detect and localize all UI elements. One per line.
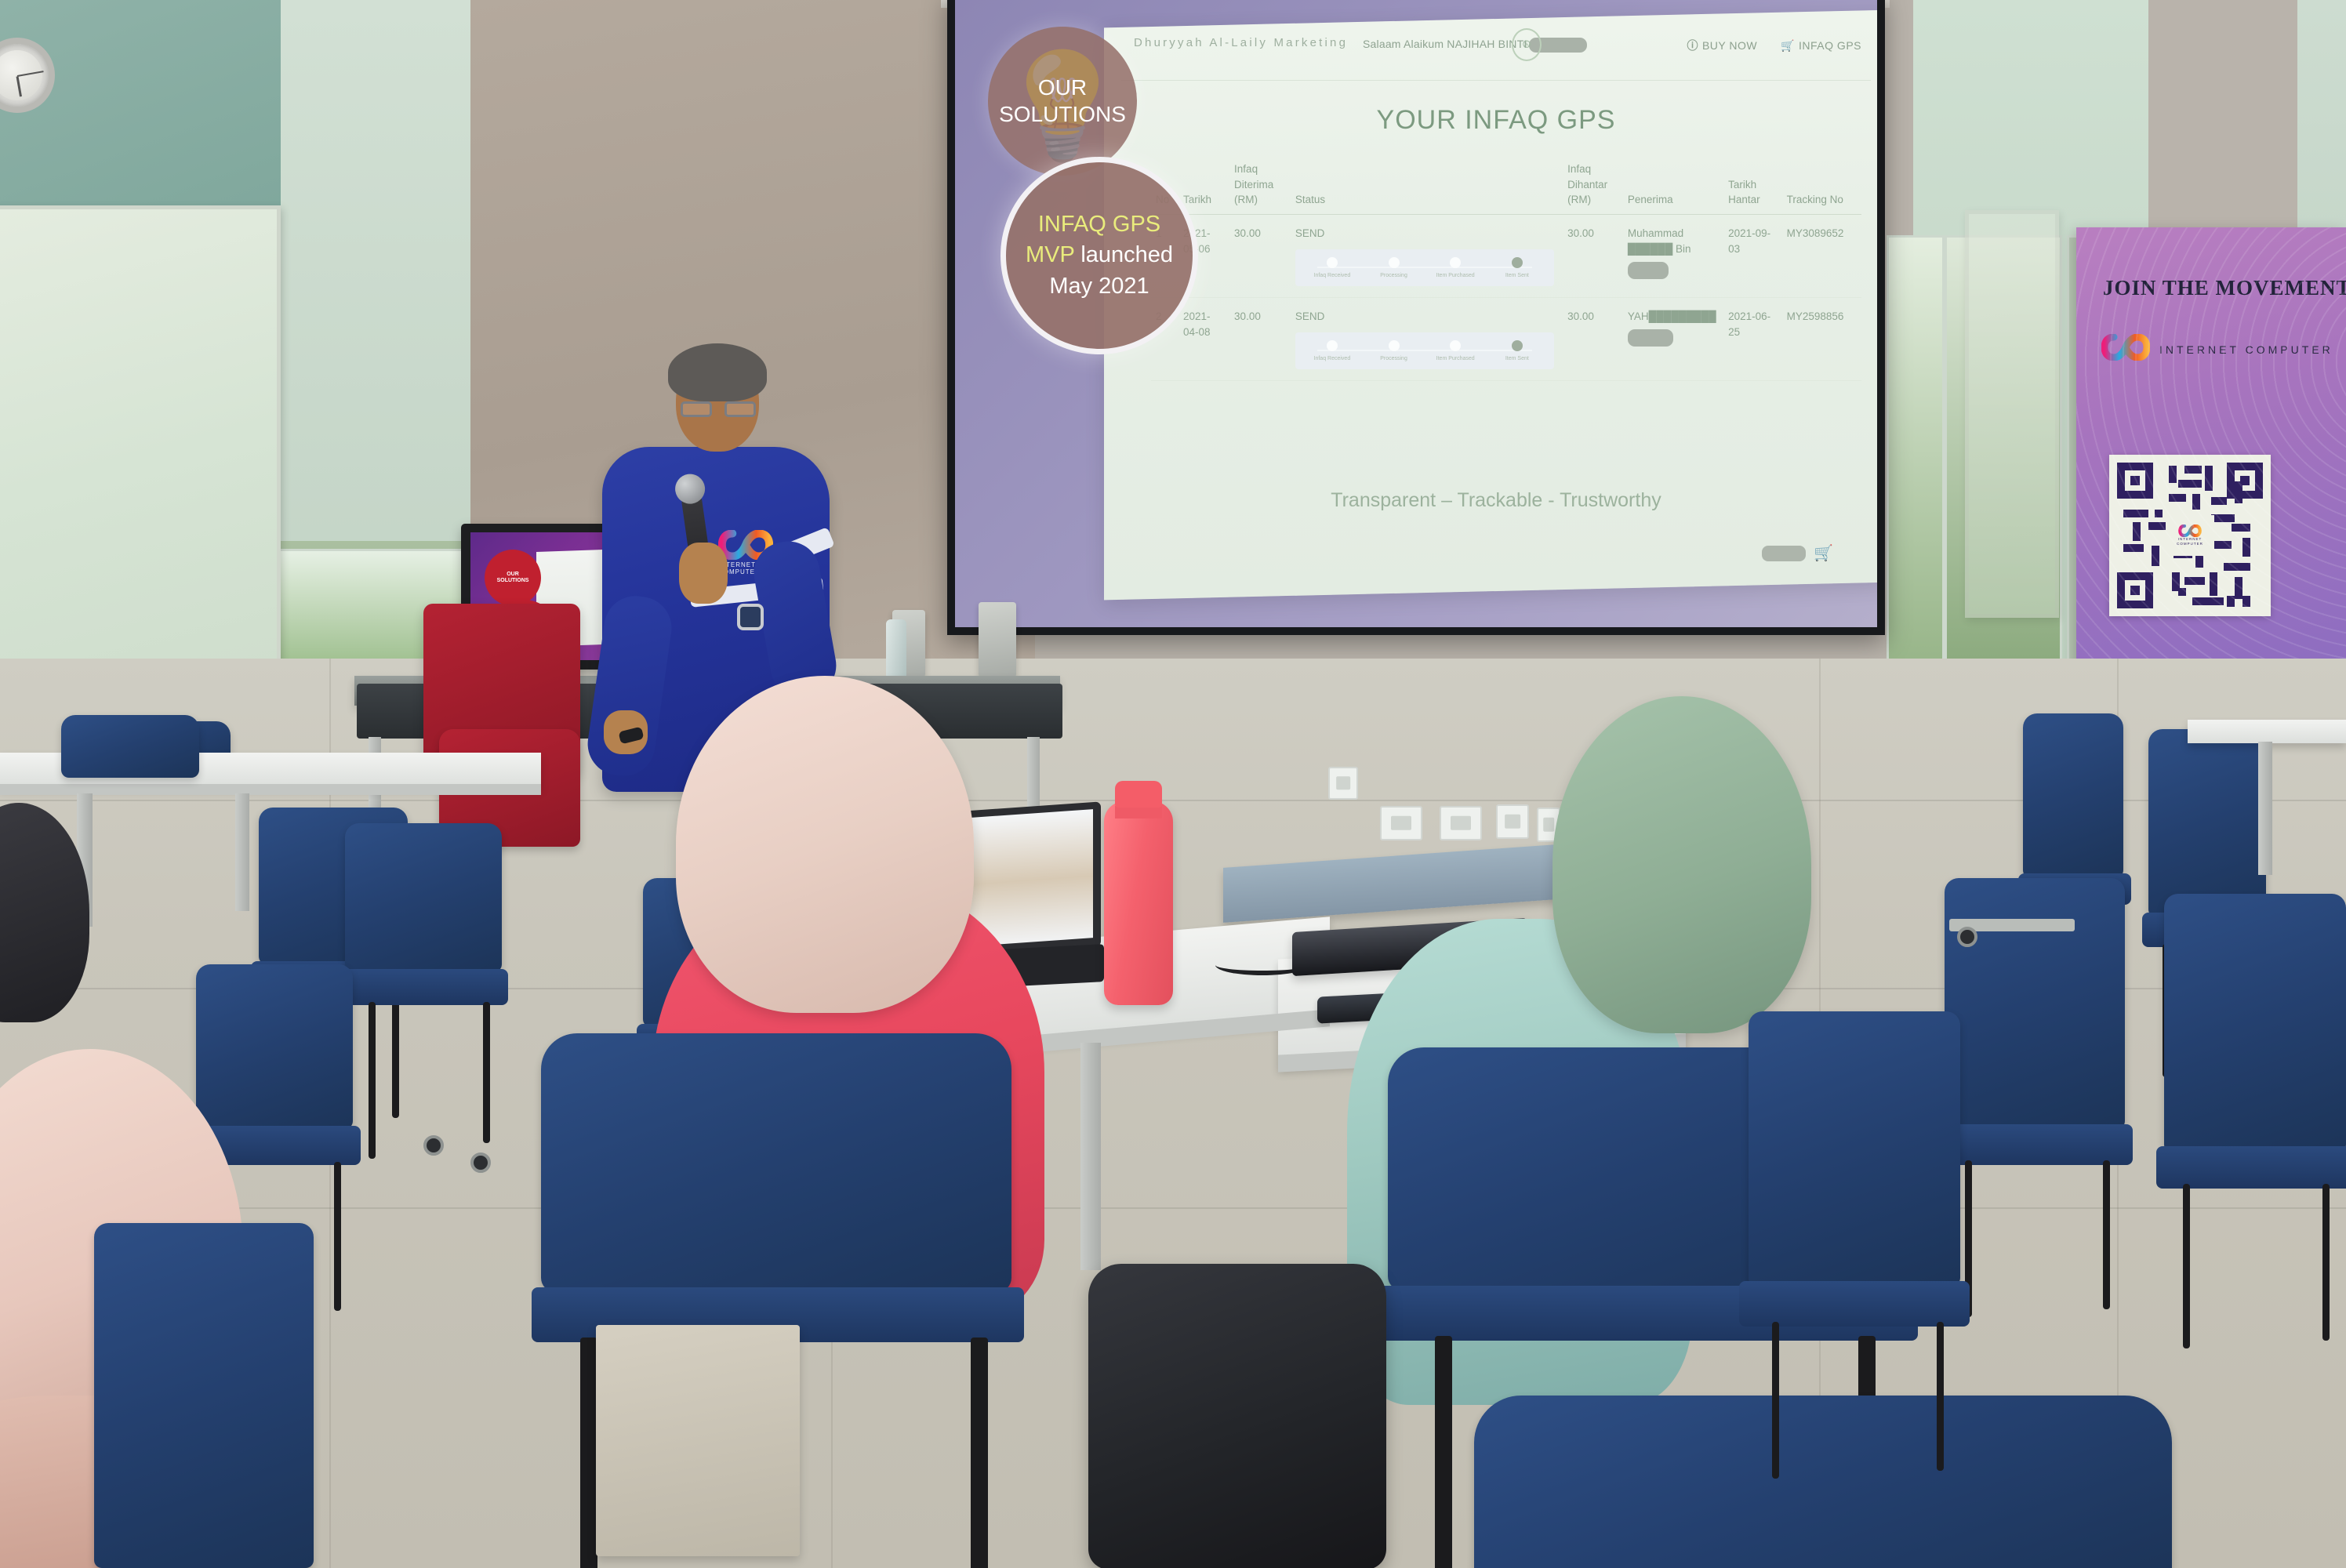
- cell-dihantar: 30.00: [1563, 297, 1623, 380]
- tracker-step-label: Item Sent: [1491, 356, 1543, 363]
- status-label: SEND: [1295, 226, 1558, 241]
- cell-diterima: 30.00: [1229, 214, 1291, 297]
- tracker-step-active: Item Sent: [1491, 257, 1543, 280]
- presenter-hair: [668, 343, 767, 401]
- speaker-right: [979, 602, 1016, 677]
- tracker-step-label: Infaq Received: [1306, 356, 1358, 363]
- table-leg: [235, 793, 249, 911]
- col-tarikh: Tarikh: [1178, 162, 1229, 214]
- navbar-links: ⓘ BUY NOW 🛒 INFAQ GPS: [1687, 38, 1861, 53]
- table-row: 1 2021-05-06 30.00 SEND Infaq Received: [1151, 214, 1861, 297]
- browser-window: Dhuryyah Al-Laily Marketing Salaam Alaik…: [1104, 10, 1877, 601]
- shopping-cart-icon[interactable]: 🛒: [1814, 543, 1833, 563]
- col-tarikh-hantar: Tarikh Hantar: [1723, 162, 1781, 214]
- table-row: 2 2021-04-08 30.00 SEND Infaq Received: [1151, 297, 1861, 380]
- whiteboard-small-right: [1965, 210, 2059, 618]
- delivery-progress-tracker: Infaq Received Processing Item Purchased…: [1295, 332, 1554, 369]
- infinity-logo-icon: [2101, 334, 2150, 365]
- info-circle-icon: ⓘ: [1687, 38, 1698, 53]
- greeting-text: Salaam Alaikum NAJIHAH BINTI: [1363, 38, 1527, 50]
- cell-penerima: YAH█████████: [1623, 297, 1723, 380]
- col-tracking: Tracking No: [1782, 162, 1861, 214]
- cell-diterima: 30.00: [1229, 297, 1291, 380]
- penerima-value: YAH█████████: [1628, 310, 1716, 322]
- cart-row: 🛒: [1762, 543, 1833, 563]
- wall-socket-4: [1496, 804, 1529, 839]
- glasses-icon: [681, 401, 756, 419]
- infaq-table: No Tarikh Infaq Diterima (RM) Status Inf…: [1151, 162, 1861, 381]
- infaq-gps-label: INFAQ GPS: [1799, 39, 1861, 52]
- buy-now-label: BUY NOW: [1702, 39, 1757, 52]
- redacted-recipient: [1628, 329, 1673, 347]
- col-penerima: Penerima: [1623, 162, 1723, 214]
- hijab: [676, 676, 974, 1013]
- tracker-step-active: Item Sent: [1491, 340, 1543, 363]
- infaq-table-wrap: No Tarikh Infaq Diterima (RM) Status Inf…: [1151, 162, 1861, 381]
- table-body: 1 2021-05-06 30.00 SEND Infaq Received: [1151, 214, 1861, 380]
- infaq-gps-link[interactable]: 🛒 INFAQ GPS: [1781, 38, 1861, 53]
- mvp-line2-rest: launched: [1080, 242, 1173, 267]
- redacted-cart-value: [1762, 546, 1806, 561]
- tracker-step-label: Infaq Received: [1306, 273, 1358, 280]
- redacted-recipient: [1628, 262, 1669, 279]
- banner-logo-row: INTERNET COMPUTER: [2101, 334, 2333, 365]
- chair-caster: [423, 1135, 444, 1156]
- tracker-step: Infaq Received: [1306, 340, 1358, 363]
- whiteboard-left: [0, 205, 281, 668]
- table-leg: [2258, 742, 2272, 875]
- shopping-cart-icon: 🛒: [1781, 39, 1795, 53]
- navbar-divider: [1121, 80, 1871, 81]
- col-diterima: Infaq Diterima (RM): [1229, 162, 1291, 214]
- site-navbar: Dhuryyah Al-Laily Marketing Salaam Alaik…: [1104, 19, 1877, 74]
- projected-slide: Dhuryyah Al-Laily Marketing Salaam Alaik…: [955, 0, 1877, 627]
- monitor-circle-solutions: OURSOLUTIONS: [485, 550, 541, 606]
- tracker-step: Item Purchased: [1429, 257, 1481, 280]
- chair-caster: [470, 1152, 491, 1173]
- black-backpack: [1088, 1264, 1386, 1568]
- presentation-room-photo: Dhuryyah Al-Laily Marketing Salaam Alaik…: [0, 0, 2346, 1568]
- tracker-step-label: Item Purchased: [1429, 273, 1481, 280]
- cell-tarikh-hantar: 2021-06-25: [1723, 297, 1781, 380]
- banner-stand-caster: [1957, 927, 1977, 947]
- wall-socket-1: [1328, 767, 1358, 800]
- our-solutions-label: OURSOLUTIONS: [999, 74, 1126, 127]
- tracker-step-label: Processing: [1368, 273, 1420, 280]
- qr-code-icon: INTERNET COMPUTER: [2109, 455, 2271, 616]
- qr-grid: INTERNET COMPUTER: [2117, 463, 2263, 608]
- tracker-step: Processing: [1368, 340, 1420, 363]
- penerima-value: Muhammad ██████ Bin: [1628, 227, 1691, 255]
- cell-dihantar: 30.00: [1563, 214, 1623, 297]
- cell-tarikh-hantar: 2021-09-03: [1723, 214, 1781, 297]
- page-title: YOUR INFAQ GPS: [1104, 105, 1877, 136]
- paper-bag: [596, 1325, 800, 1556]
- mvp-launch-circle: INFAQ GPS MVP launched May 2021: [1000, 157, 1198, 354]
- tracker-step-label: Item Sent: [1491, 273, 1543, 280]
- wristwatch: [737, 604, 764, 630]
- site-brand: Dhuryyah Al-Laily Marketing: [1134, 36, 1348, 49]
- table-leg: [1080, 1043, 1101, 1270]
- presenter-hand-mic: [679, 543, 728, 604]
- halal-certification-icon: ☮: [1512, 28, 1542, 61]
- banner-logo-text: INTERNET COMPUTER: [2159, 343, 2333, 356]
- mvp-line3: May 2021: [1049, 274, 1149, 299]
- table-head: No Tarikh Infaq Diterima (RM) Status Inf…: [1151, 162, 1861, 214]
- user-greeting: Salaam Alaikum NAJIHAH BINTI: [1363, 38, 1587, 53]
- wall-socket-2: [1380, 806, 1422, 840]
- tracker-step: Processing: [1368, 257, 1420, 280]
- right-table: [2188, 720, 2346, 743]
- mvp-line1: INFAQ GPS: [1038, 212, 1160, 237]
- pink-water-bottle: [1104, 801, 1173, 1005]
- qr-logo-caption: INTERNET COMPUTER: [2166, 537, 2214, 546]
- buy-now-link[interactable]: ⓘ BUY NOW: [1687, 38, 1757, 53]
- cell-penerima: Muhammad ██████ Bin: [1623, 214, 1723, 297]
- our-solutions-circle: 💡 OURSOLUTIONS: [988, 27, 1137, 176]
- hijab: [1552, 696, 1811, 1033]
- cell-status: SEND Infaq Received Processing Item Purc…: [1291, 214, 1563, 297]
- tracker-step-label: Processing: [1368, 356, 1420, 363]
- cell-status: SEND Infaq Received Processing Item Purc…: [1291, 297, 1563, 380]
- banner-headline: JOIN THE MOVEMENT: [2103, 276, 2346, 300]
- small-water-bottle: [886, 619, 906, 682]
- col-status: Status: [1291, 162, 1563, 214]
- wall-left-pale: [281, 0, 485, 619]
- cell-tracking: MY2598856: [1782, 297, 1861, 380]
- tracker-step-label: Item Purchased: [1429, 356, 1481, 363]
- window-behind-screen: [1887, 235, 1945, 674]
- table-header-row: No Tarikh Infaq Diterima (RM) Status Inf…: [1151, 162, 1861, 214]
- qr-center-logo: INTERNET COMPUTER: [2166, 515, 2214, 556]
- col-dihantar: Infaq Dihantar (RM): [1563, 162, 1623, 214]
- tracker-step: Item Purchased: [1429, 340, 1481, 363]
- slide-tagline: Transparent – Trackable - Trustworthy: [1104, 489, 1877, 512]
- cell-tracking: MY3089652: [1782, 214, 1861, 297]
- mvp-launch-label: INFAQ GPS MVP launched May 2021: [1026, 209, 1173, 301]
- status-label: SEND: [1295, 309, 1558, 325]
- tracker-step: Infaq Received: [1306, 257, 1358, 280]
- wall-socket-3: [1440, 806, 1482, 840]
- cell-tarikh: 2021-04-08: [1178, 297, 1229, 380]
- delivery-progress-tracker: Infaq Received Processing Item Purchased…: [1295, 249, 1554, 286]
